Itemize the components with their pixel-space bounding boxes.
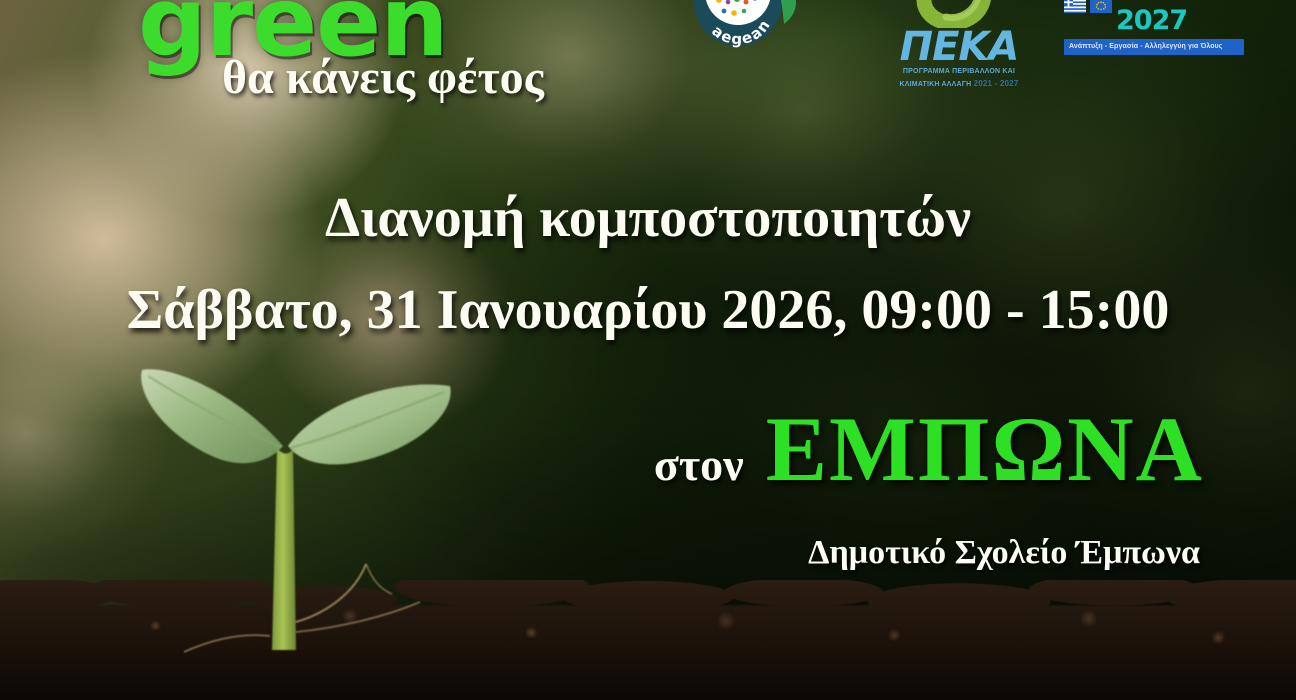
event-location: στον ΕΜΠΩΝΑ: [654, 396, 1204, 502]
peka-years: 2021 - 2027: [974, 79, 1019, 88]
event-date-time: Σάββατο, 31 Ιανουαρίου 2026, 09:00 - 15:…: [0, 278, 1296, 342]
peka-subtitle-line1: ΠΡΟΓΡΑΜΜΑ ΠΕΡΙΒΑΛΛΟΝ ΚΑΙ: [884, 68, 1034, 77]
location-village-name: ΕΜΠΩΝΑ: [766, 396, 1204, 502]
peka-subtitle-text: ΚΛΙΜΑΤΙΚΗ ΑΛΛΑΓΗ: [900, 81, 972, 88]
peka-logo: ΠΕΚΑ ΠΡΟΓΡΑΜΜΑ ΠΕΡΙΒΑΛΛΟΝ ΚΑΙ ΚΛΙΜΑΤΙΚΗ …: [884, 28, 1034, 90]
espa-years: 2021-2027: [1116, 0, 1244, 36]
location-prefix: στον: [654, 438, 744, 491]
espa-top-row: 2021-2027: [1064, 0, 1244, 36]
peka-subtitle-line2: ΚΛΙΜΑΤΙΚΗ ΑΛΛΑΓΗ 2021 - 2027: [884, 79, 1034, 90]
espa-logo: 2021-2027 Ανάπτυξη - Εργασία - Αλληλεγγύ…: [1064, 0, 1244, 55]
espa-slogan-band: Ανάπτυξη - Εργασία - Αλληλεγγύη για Όλου…: [1064, 39, 1244, 55]
poster-canvas: green θα κάνεις φέτος Διανομή κομποστοπο…: [0, 0, 1296, 700]
aegean-logo: aegean: [678, 0, 814, 58]
soil-band: [0, 580, 1296, 700]
tagline: θα κάνεις φέτος: [222, 50, 544, 105]
greek-flag-icon: [1064, 0, 1086, 13]
peka-wordmark: ΠΕΚΑ: [884, 28, 1034, 66]
page-title: Διανομή κομποστοποιητών: [0, 186, 1296, 250]
eu-flag-icon: [1090, 0, 1112, 13]
event-venue: Δημοτικό Σχολείο Έμπωνα: [808, 534, 1200, 572]
